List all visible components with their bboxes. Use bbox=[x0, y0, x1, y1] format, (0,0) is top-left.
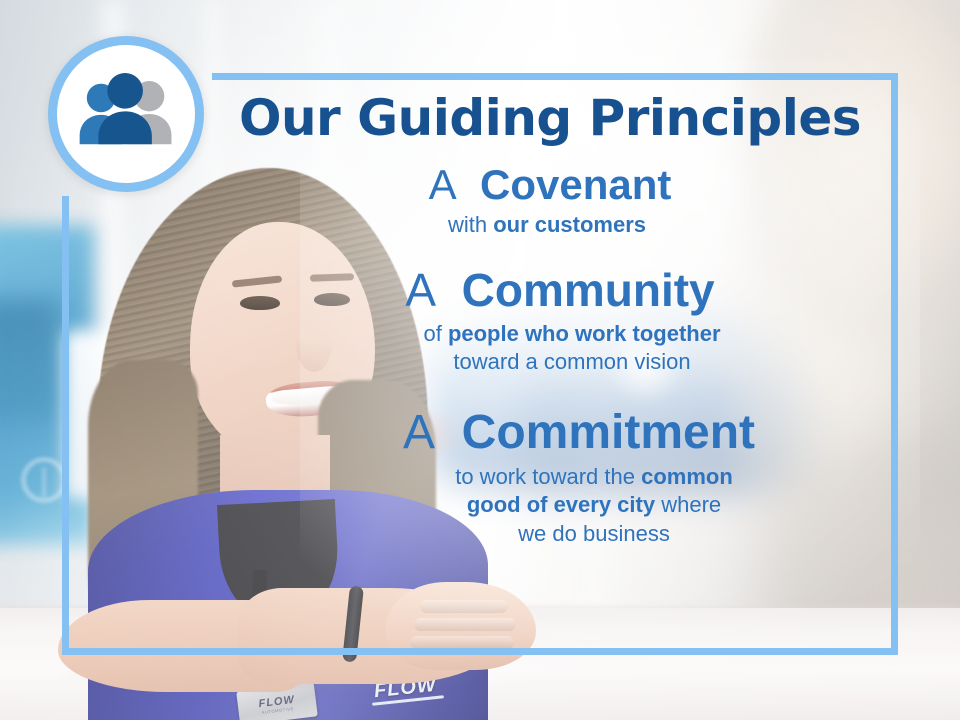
subtext-part: with bbox=[448, 212, 493, 237]
principle-title: A Covenant bbox=[232, 162, 868, 207]
principle-article: A bbox=[405, 264, 448, 316]
subtext-part: we do business bbox=[518, 521, 670, 546]
principle-subtext: to work toward the common good of every … bbox=[232, 463, 868, 549]
people-group-badge bbox=[48, 36, 204, 192]
subtext-part: where bbox=[655, 492, 721, 517]
blurred-vw-roundel-icon bbox=[22, 458, 66, 502]
subtext-part-bold: our customers bbox=[493, 212, 646, 237]
subtext-part-bold: good of every city bbox=[467, 492, 655, 517]
subtext-part-bold: people who work together bbox=[448, 321, 721, 346]
principle-word: Commitment bbox=[462, 406, 755, 459]
principle-title: A Commitment bbox=[232, 407, 868, 459]
principle-word: Covenant bbox=[480, 161, 671, 208]
principle-community: A Community of people who work together … bbox=[232, 266, 868, 377]
text-content: Our Guiding Principles A Covenant with o… bbox=[212, 80, 898, 648]
principle-word: Community bbox=[462, 264, 715, 316]
people-group-icon bbox=[72, 73, 180, 155]
principle-commitment: A Commitment to work toward the common g… bbox=[232, 407, 868, 549]
page-title: Our Guiding Principles bbox=[232, 92, 868, 144]
subtext-line: we do business bbox=[320, 520, 868, 549]
guiding-principles-graphic: FLOW AUTOMOTIVE FLOW bbox=[0, 0, 960, 720]
subtext-part: to work toward the bbox=[455, 464, 641, 489]
principle-subtext: of people who work together toward a com… bbox=[232, 320, 868, 377]
principle-title: A Community bbox=[232, 266, 868, 316]
subtext-line: toward a common vision bbox=[276, 348, 868, 377]
subtext-part-bold: common bbox=[641, 464, 733, 489]
blurred-panel-shadow bbox=[0, 300, 60, 420]
subtext-line: of people who work together bbox=[276, 320, 868, 349]
principle-article: A bbox=[429, 161, 469, 208]
principle-subtext: with our customers bbox=[232, 211, 868, 240]
principle-article: A bbox=[403, 406, 448, 459]
subtext-line: good of every city where bbox=[320, 491, 868, 520]
subtext-part: of bbox=[423, 321, 447, 346]
subtext-line: to work toward the common bbox=[320, 463, 868, 492]
principle-covenant: A Covenant with our customers bbox=[232, 162, 868, 240]
subtext-part: toward a common vision bbox=[453, 349, 690, 374]
